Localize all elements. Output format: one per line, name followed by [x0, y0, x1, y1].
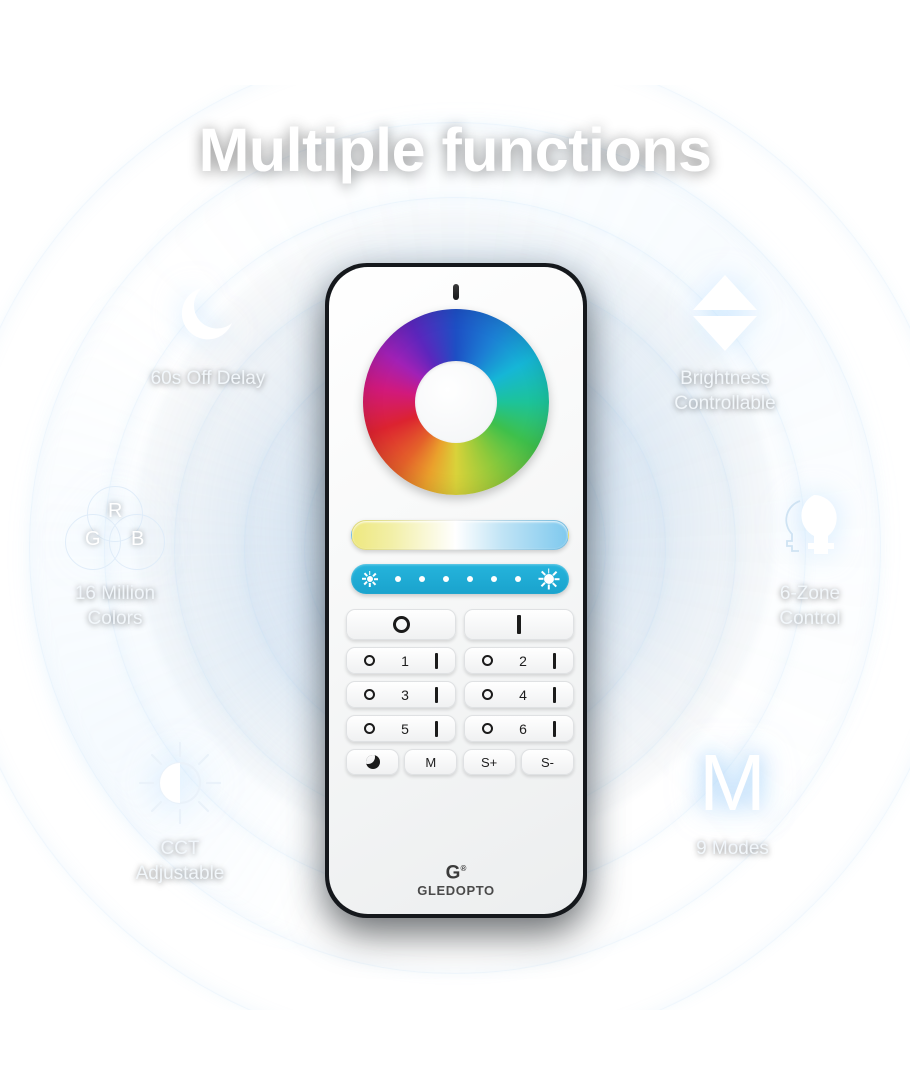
moon-icon	[366, 755, 380, 769]
power-off-icon	[393, 616, 410, 633]
sun-small-icon	[362, 572, 377, 587]
zone-on-icon	[553, 653, 556, 669]
feature-rgb-colors: R G B 16 Million Colors	[15, 485, 215, 631]
color-wheel[interactable]	[363, 309, 549, 495]
light-bulbs-icon	[720, 485, 900, 571]
cct-slider[interactable]	[351, 520, 569, 550]
zone-on-icon	[435, 653, 438, 669]
brightness-dot	[491, 576, 497, 582]
zone-number: 3	[401, 687, 409, 703]
keypad-row-zone-1-2: 1 2	[346, 647, 574, 674]
brand-mark-glyph: G	[446, 862, 461, 883]
speed-up-label: S+	[481, 755, 497, 770]
venn-label-g: G	[85, 528, 101, 551]
brand-logo: G® GLEDOPTO	[329, 859, 583, 898]
power-on-icon	[517, 615, 521, 634]
zone-number: 2	[519, 653, 527, 669]
mode-button[interactable]: M	[404, 749, 457, 775]
night-mode-button[interactable]	[346, 749, 399, 775]
zone-4-button[interactable]: 4	[464, 681, 574, 708]
feature-zone-label: 6-Zone Control	[720, 581, 900, 631]
zone-2-button[interactable]: 2	[464, 647, 574, 674]
zone-number: 1	[401, 653, 409, 669]
speed-down-label: S-	[541, 755, 554, 770]
brightness-dot	[395, 576, 401, 582]
keypad-row-functions: M S+ S-	[346, 749, 574, 775]
led-indicator	[453, 284, 459, 300]
letter-m-icon: M	[645, 740, 820, 826]
zone-off-icon	[482, 689, 493, 700]
speed-up-button[interactable]: S+	[463, 749, 516, 775]
zone-off-icon	[364, 689, 375, 700]
feature-cct-label: CCT Adjustable	[90, 836, 270, 886]
crescent-moon-icon	[88, 270, 328, 356]
power-off-button[interactable]	[346, 609, 456, 640]
remote-control: 1 2	[325, 263, 587, 918]
feature-zone: 6-Zone Control	[720, 485, 900, 631]
keypad-row-power	[346, 609, 574, 640]
zone-number: 4	[519, 687, 527, 703]
venn-label-b: B	[131, 528, 144, 551]
zone-number: 5	[401, 721, 409, 737]
brightness-dot	[443, 576, 449, 582]
page-title: Multiple functions	[0, 115, 910, 185]
feature-off-delay-label: 60s Off Delay	[88, 366, 328, 391]
brand-name: GLEDOPTO	[329, 883, 583, 898]
remote-face: 1 2	[329, 267, 583, 914]
zone-3-button[interactable]: 3	[346, 681, 456, 708]
zone-5-button[interactable]: 5	[346, 715, 456, 742]
mode-label: M	[425, 755, 436, 770]
zone-on-icon	[435, 721, 438, 737]
brightness-dot	[467, 576, 473, 582]
power-on-button[interactable]	[464, 609, 574, 640]
zone-on-icon	[435, 687, 438, 703]
feature-cct: CCT Adjustable	[90, 740, 270, 886]
letter-m-glyph: M	[699, 743, 766, 823]
rgb-venn-icon: R G B	[15, 485, 215, 571]
half-sun-icon	[90, 740, 270, 826]
zone-off-icon	[482, 723, 493, 734]
brightness-slider[interactable]	[351, 564, 569, 594]
registered-icon: ®	[460, 864, 466, 873]
feature-rgb-colors-label: 16 Million Colors	[15, 581, 215, 631]
feature-brightness: Brightness Controllable	[620, 270, 830, 416]
brand-mark: G®	[329, 859, 583, 882]
keypad: 1 2	[346, 609, 574, 782]
keypad-row-zone-3-4: 3 4	[346, 681, 574, 708]
sun-large-icon	[539, 570, 558, 589]
brightness-dot	[515, 576, 521, 582]
zone-off-icon	[482, 655, 493, 666]
venn-label-r: R	[108, 500, 122, 523]
zone-on-icon	[553, 687, 556, 703]
feature-modes-label: 9 Modes	[645, 836, 820, 861]
zone-off-icon	[364, 655, 375, 666]
speed-down-button[interactable]: S-	[521, 749, 574, 775]
zone-off-icon	[364, 723, 375, 734]
keypad-row-zone-5-6: 5 6	[346, 715, 574, 742]
zone-1-button[interactable]: 1	[346, 647, 456, 674]
zone-6-button[interactable]: 6	[464, 715, 574, 742]
zone-on-icon	[553, 721, 556, 737]
feature-off-delay: 60s Off Delay	[88, 270, 328, 391]
feature-brightness-label: Brightness Controllable	[620, 366, 830, 416]
feature-modes: M 9 Modes	[645, 740, 820, 861]
zone-number: 6	[519, 721, 527, 737]
up-down-triangles-icon	[620, 270, 830, 356]
brightness-dot	[419, 576, 425, 582]
poster-background: Multiple functions 60s Off Delay R G B 1…	[0, 85, 910, 1010]
